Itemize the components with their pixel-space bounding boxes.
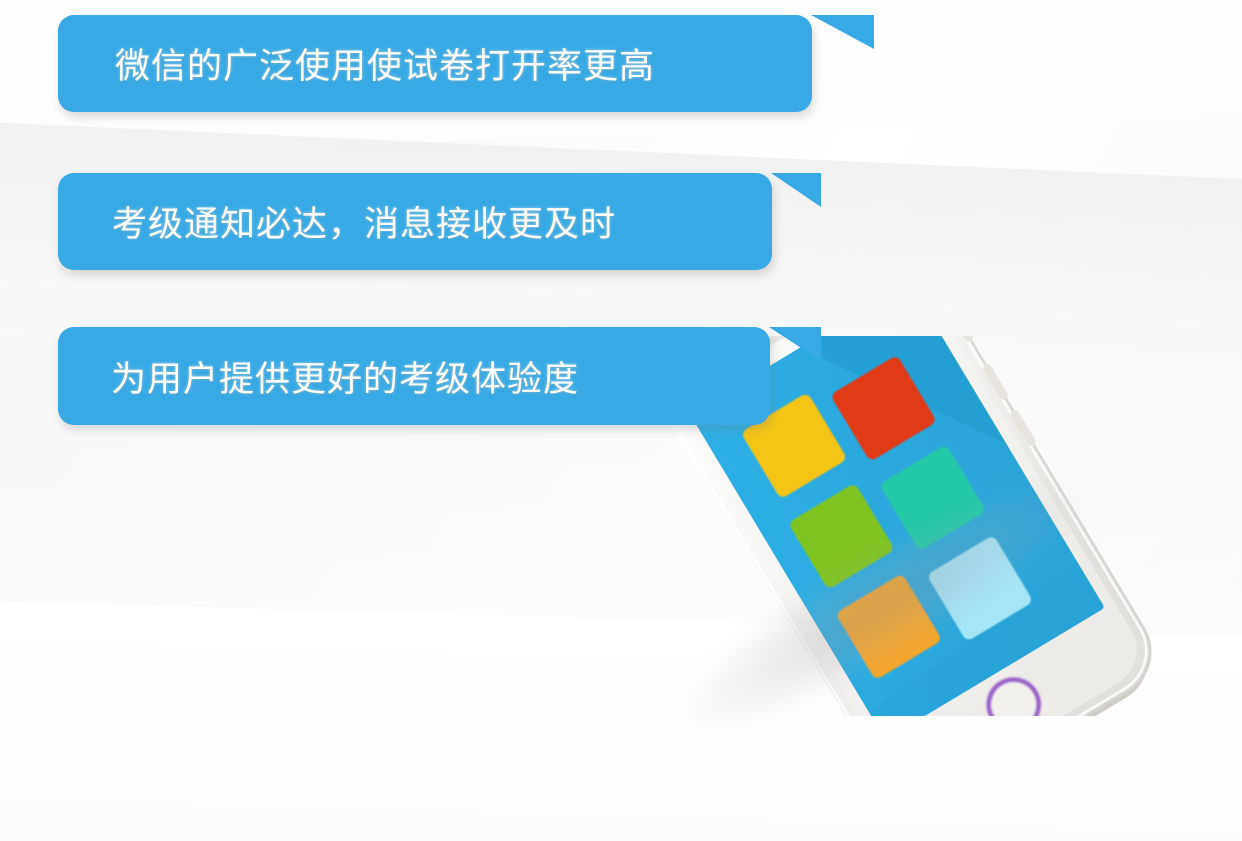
speech-bubble-3[interactable]: 为用户提供更好的考级体验度 <box>58 327 770 425</box>
speech-bubble-1[interactable]: 微信的广泛使用使试卷打开率更高 <box>58 15 812 112</box>
speech-bubble-2[interactable]: 考级通知必达，消息接收更及时 <box>58 173 772 270</box>
bubble-text: 考级通知必达，消息接收更及时 <box>58 173 826 270</box>
slide-canvas: 微信的广泛使用使试卷打开率更高 考级通知必达，消息接收更及时 为用户提供更好的考… <box>0 0 1242 841</box>
bubble-text: 为用户提供更好的考级体验度 <box>58 327 823 425</box>
bubble-text: 微信的广泛使用使试卷打开率更高 <box>58 15 869 112</box>
